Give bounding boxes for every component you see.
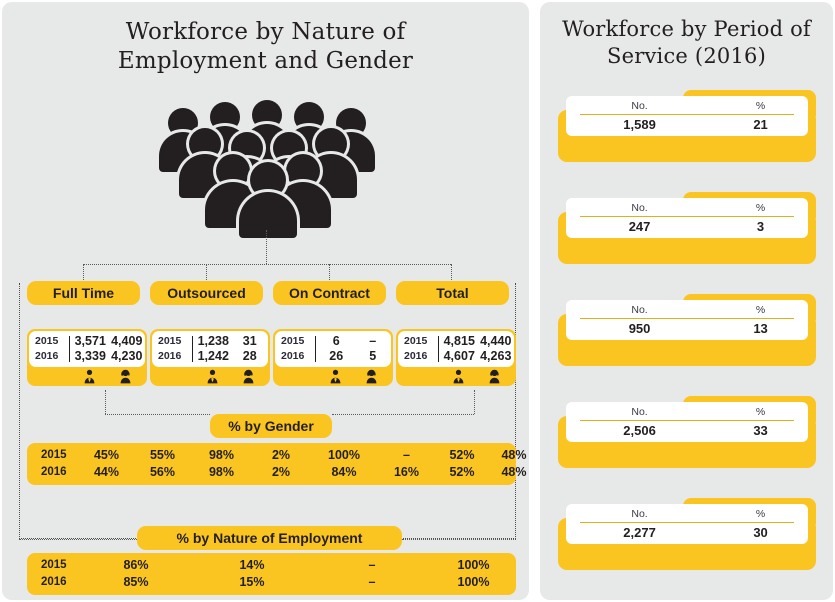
pct-female: 16% [376,464,437,481]
service-table: No. % 2,277 30 [566,504,808,544]
col-header-pct: % [713,303,808,318]
value-no: 2,277 [566,523,713,542]
col-header-pct: % [713,201,808,216]
gender-percent-band: 2015 2016 45% 55% 98% 2% 100% – 52% 48% … [27,443,516,485]
year-label: 2016 [27,574,81,591]
workforce-employment-panel: Workforce by Nature of Employment and Ge… [2,2,529,600]
year-label: 2016 [152,349,192,364]
pct-male: 45% [81,447,132,464]
male-businessperson-icon [451,369,466,384]
table-row: 247 3 [566,217,808,236]
male-businessperson-icon [328,369,343,384]
connector-stem [266,230,267,264]
card-values: 2015 2016 3,571 4,409 3,339 4,230 [29,331,145,367]
pct-female: 48% [487,447,541,464]
year-label: 2015 [27,447,81,464]
connector-drop [105,390,106,414]
card-values: 2015 2016 4,815 4,440 4,607 4,263 [398,331,514,367]
category-pill-outsourced[interactable]: Outsourced [150,281,263,305]
pct-male: 52% [437,464,487,481]
col-header-no: No. [566,303,713,318]
service-table: No. % 2,506 33 [566,402,808,442]
value-pct: 21 [713,115,808,134]
column-divider [438,336,439,362]
table-row: 2,506 33 [566,421,808,440]
year-label: 2015 [27,557,81,574]
female-count: 4,440 [478,334,515,349]
male-count: 6 [318,334,355,349]
card-values: 2015 2016 6 – 26 5 [275,331,391,367]
connector-bar [105,414,210,415]
value-no: 247 [566,217,713,236]
female-count: 28 [232,349,269,364]
category-pill-total[interactable]: Total [396,281,509,305]
workforce-service-panel: Workforce by Period of Service (2016) > … [540,2,833,600]
connector-drop [451,264,452,282]
infographic-page: Workforce by Nature of Employment and Ge… [0,0,835,602]
gender-icon-strip [71,368,143,385]
female-businessperson-icon [241,369,256,384]
pct-male: 98% [193,464,250,481]
value-pct: 30 [713,523,808,542]
male-count: 4,815 [441,334,478,349]
pct-male: 100% [312,447,376,464]
pct-total: 100% [431,574,516,591]
year-label: 2016 [398,349,438,364]
pct-outsourced: 14% [191,557,313,574]
gender-icon-strip [440,368,512,385]
female-businessperson-icon [118,369,133,384]
page-title: Workforce by Period of Service (2016) [540,2,833,70]
table-header-row: No. % [566,405,808,420]
male-businessperson-icon [205,369,220,384]
connector-drop [474,390,475,414]
col-header-pct: % [713,507,808,522]
year-label: 2015 [152,334,192,349]
pct-female: 48% [487,464,541,481]
section-pill-nature[interactable]: % by Nature of Employment [137,526,402,550]
service-table: No. % 247 3 [566,198,808,238]
connector-drop [206,264,207,282]
male-count: 3,571 [72,334,109,349]
connector-bar [83,264,451,265]
table-header-row: No. % [566,303,808,318]
value-no: 1,589 [566,115,713,134]
pct-outsourced: 15% [191,574,313,591]
value-pct: 3 [713,217,808,236]
male-businessperson-icon [82,369,97,384]
column-divider [315,336,316,362]
connector-bar [332,414,474,415]
column-divider [69,336,70,362]
service-table: No. % 950 13 [566,300,808,340]
section-pill-gender[interactable]: % by Gender [210,414,332,438]
year-label: 2015 [275,334,315,349]
table-row: 2,277 30 [566,523,808,542]
pct-on-contract: – [313,557,431,574]
pct-female: 2% [250,464,312,481]
year-label: 2015 [398,334,438,349]
pct-male: 44% [81,464,132,481]
pct-female: 2% [250,447,312,464]
col-header-no: No. [566,99,713,114]
female-count: 31 [232,334,269,349]
category-pill-full-time[interactable]: Full Time [27,281,140,305]
table-header-row: No. % [566,507,808,522]
value-pct: 33 [713,421,808,440]
headcount-card-full-time: 2015 2016 3,571 4,409 3,339 4,230 [27,329,147,386]
col-header-no: No. [566,201,713,216]
col-header-no: No. [566,507,713,522]
page-title: Workforce by Nature of Employment and Ge… [2,2,529,77]
female-count: 4,230 [109,349,146,364]
pct-female: – [376,447,437,464]
matrix-bracket [19,283,516,539]
table-header-row: No. % [566,201,808,216]
year-label: 2016 [27,464,81,481]
col-header-pct: % [713,99,808,114]
nature-percent-band: 2015 2016 86% 14% – 100% 85% 15% – 100% [27,553,516,595]
gender-icon-strip [194,368,266,385]
male-count: 26 [318,349,355,364]
connector-drop [329,264,330,282]
male-count: 1,242 [195,349,232,364]
year-label: 2016 [29,349,69,364]
pct-female: 55% [132,447,193,464]
connector-bar [402,539,516,540]
female-count: 4,263 [478,349,515,364]
value-no: 2,506 [566,421,713,440]
female-count: – [355,334,392,349]
female-count: 5 [355,349,392,364]
female-businessperson-icon [364,369,379,384]
card-values: 2015 2016 1,238 31 1,242 28 [152,331,268,367]
headcount-card-on-contract: 2015 2016 6 – 26 5 [273,329,393,386]
pct-total: 100% [431,557,516,574]
value-no: 950 [566,319,713,338]
pct-on-contract: – [313,574,431,591]
year-label: 2015 [29,334,69,349]
person-silhouette [237,162,299,236]
service-table: No. % 1,589 21 [566,96,808,136]
male-count: 3,339 [72,349,109,364]
female-count: 4,409 [109,334,146,349]
people-group-icon [157,100,377,226]
pct-male: 84% [312,464,376,481]
table-row: 950 13 [566,319,808,338]
year-label: 2016 [275,349,315,364]
male-count: 1,238 [195,334,232,349]
col-header-no: No. [566,405,713,420]
male-count: 4,607 [441,349,478,364]
pct-full-time: 85% [81,574,191,591]
value-pct: 13 [713,319,808,338]
column-divider [192,336,193,362]
pct-male: 98% [193,447,250,464]
table-header-row: No. % [566,99,808,114]
table-row: 1,589 21 [566,115,808,134]
pct-full-time: 86% [81,557,191,574]
col-header-pct: % [713,405,808,420]
headcount-card-total: 2015 2016 4,815 4,440 4,607 4,263 [396,329,516,386]
connector-bar [19,539,137,540]
headcount-card-outsourced: 2015 2016 1,238 31 1,242 28 [150,329,270,386]
category-pill-on-contract[interactable]: On Contract [273,281,386,305]
connector-drop [83,264,84,282]
pct-female: 56% [132,464,193,481]
female-businessperson-icon [487,369,502,384]
pct-male: 52% [437,447,487,464]
gender-icon-strip [317,368,389,385]
